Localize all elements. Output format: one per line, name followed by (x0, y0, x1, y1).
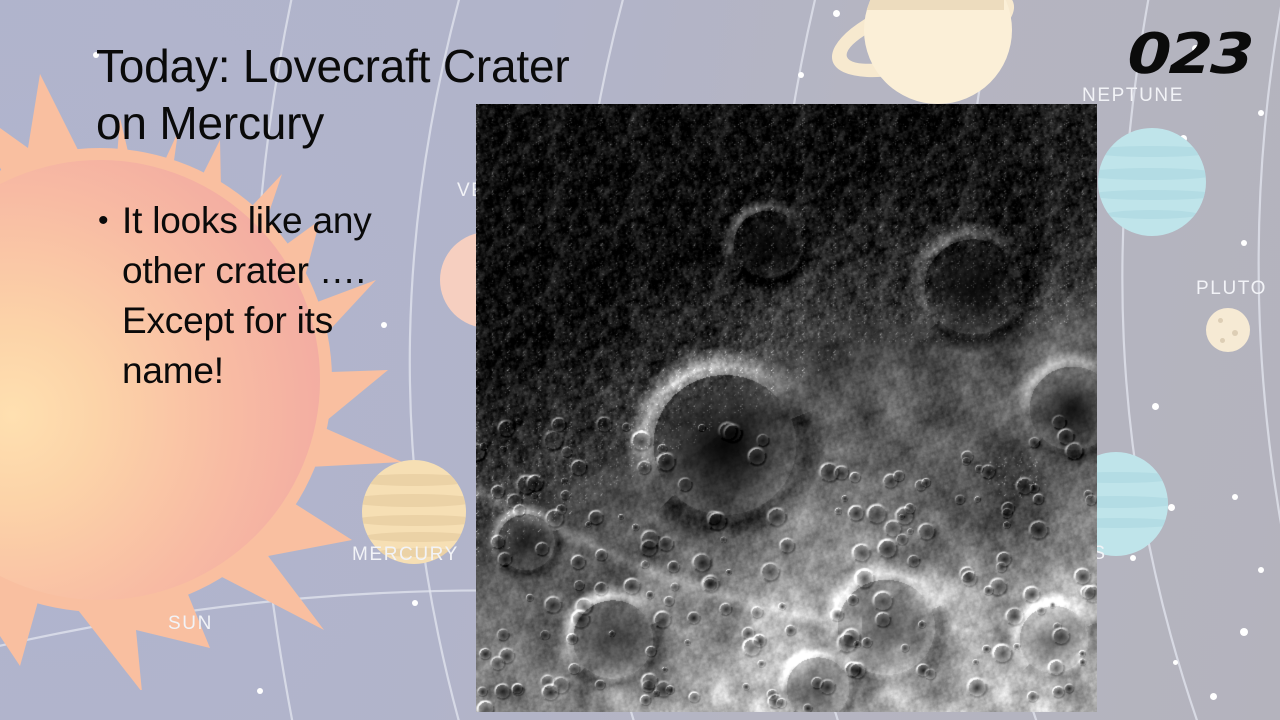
saturn-body (864, 0, 1012, 104)
title-line-1: Today: Lovecraft Crater (96, 38, 696, 95)
bullet-line-1: It looks like any (122, 200, 372, 241)
bullet-line-4: name! (122, 350, 224, 391)
bullet-item: It looks like any other crater …. Except… (96, 196, 446, 396)
planet-label-neptune: NEPTUNE (1082, 85, 1184, 107)
bullet-line-2: other crater …. (122, 250, 366, 291)
bullet-line-3: Except for its (122, 300, 333, 341)
planet-neptune (1098, 128, 1206, 236)
planet-pluto (1206, 308, 1250, 352)
title-line-2: on Mercury (96, 95, 696, 152)
planet-label-sun: SUN (168, 613, 213, 635)
crater-image-canvas (476, 104, 1097, 712)
planet-label-pluto: PLUTO (1196, 278, 1267, 300)
lovecraft-crater-photo (476, 104, 1097, 712)
page-number: 023 (1127, 22, 1254, 87)
slide-title: Today: Lovecraft Crater on Mercury (96, 38, 696, 152)
planet-label-mercury: MERCURY (352, 544, 459, 566)
presentation-slide: SUN MERCURY VE NEPTUNE PLUTO US Today: L… (0, 0, 1280, 720)
slide-body: It looks like any other crater …. Except… (96, 196, 446, 396)
